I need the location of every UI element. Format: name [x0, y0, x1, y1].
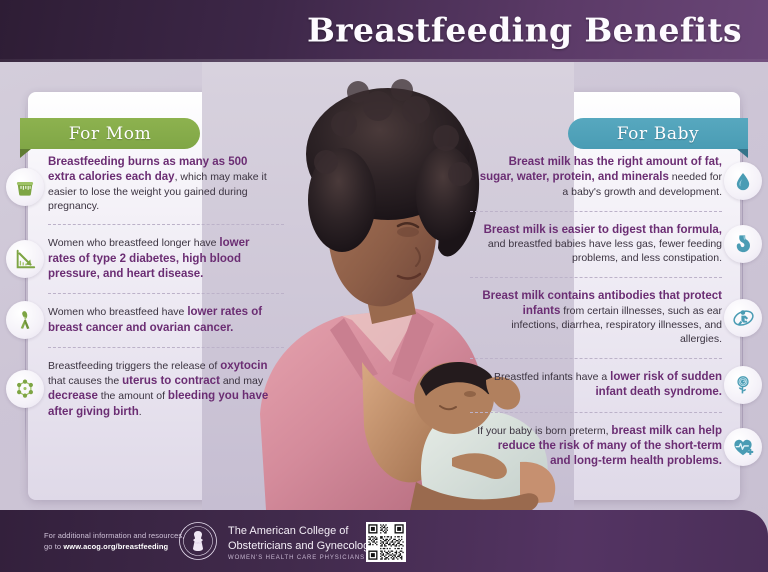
milk-droplet-icon [724, 162, 762, 200]
list-item: If your baby is born preterm, breast mil… [470, 412, 722, 481]
body-text: and breastfed babies have less gas, fewe… [488, 238, 722, 264]
for-baby-banner: For Baby [568, 118, 748, 149]
list-item: Breastfed infants have a lower risk of s… [470, 358, 722, 412]
acog-name-line1: The American College of [228, 525, 348, 537]
stomach-icon [724, 225, 762, 263]
rose-icon [724, 366, 762, 404]
poster-footer: For additional information and resources… [0, 510, 768, 572]
right-connector-line [742, 104, 743, 464]
svg-text:1951: 1951 [195, 542, 201, 545]
for-mom-label: For Mom [69, 124, 152, 144]
emphasized-text: uterus to contract [122, 375, 220, 387]
list-item: Breast milk contains antibodies that pro… [470, 277, 722, 358]
emphasized-text: oxytocin [220, 360, 267, 372]
infographic-poster: Breastfeeding Benefits [0, 0, 768, 572]
emphasized-text: decrease [48, 390, 98, 402]
acog-organization-name: The American College of Obstetricians an… [228, 524, 386, 563]
footer-note-line1: For additional information and resources… [44, 531, 184, 540]
body-text: the amount of [98, 390, 168, 402]
body-text: and may [220, 375, 263, 387]
body-text: that causes the [48, 375, 122, 387]
body-text: If your baby is born preterm, [477, 425, 611, 437]
mom-benefits-list: Breastfeeding burns as many as 500 extra… [48, 150, 284, 431]
awareness-ribbon-icon [6, 301, 44, 339]
weight-scale-icon [6, 168, 44, 206]
left-connector-line [25, 104, 26, 464]
emphasized-text: Breast milk is easier to digest than for… [484, 224, 722, 236]
heart-pulse-icon [724, 428, 762, 466]
emphasized-text: lower risk of sudden infant death syndro… [595, 371, 722, 398]
body-text: Women who breastfeed longer have [48, 237, 219, 249]
protected-baby-icon [724, 299, 762, 337]
body-text: Breastfeeding triggers the release of [48, 360, 220, 372]
list-item: Breastfeeding triggers the release of ox… [48, 347, 284, 431]
poster-header: Breastfeeding Benefits [0, 0, 768, 62]
baby-benefits-list: Breast milk has the right amount of fat,… [470, 150, 722, 481]
body-text: Women who breastfeed have [48, 306, 187, 318]
body-text: Breastfed infants have a [494, 371, 610, 383]
body-text: . [139, 406, 142, 418]
acog-url-link[interactable]: www.acog.org/breastfeeding [63, 542, 168, 551]
declining-chart-icon [6, 240, 44, 278]
list-item: Breastfeeding burns as many as 500 extra… [48, 150, 284, 224]
molecule-icon [6, 370, 44, 408]
list-item: Breast milk is easier to digest than for… [470, 211, 722, 277]
list-item: Breast milk has the right amount of fat,… [470, 150, 722, 211]
for-baby-label: For Baby [617, 124, 700, 144]
list-item: Women who breastfeed have lower rates of… [48, 293, 284, 347]
acog-tagline: WOMEN'S HEALTH CARE PHYSICIANS [228, 555, 386, 563]
acog-name-line2: Obstetricians and Gynecologists [228, 540, 386, 552]
footer-resource-note: For additional information and resources… [44, 530, 184, 553]
qr-code-icon[interactable] [366, 522, 406, 562]
list-item: Women who breastfeed longer have lower r… [48, 224, 284, 293]
for-mom-banner: For Mom [20, 118, 200, 149]
footer-note-prefix: go to [44, 542, 63, 551]
acog-seal-icon: 1951 [178, 521, 218, 561]
page-title: Breastfeeding Benefits [307, 11, 742, 50]
